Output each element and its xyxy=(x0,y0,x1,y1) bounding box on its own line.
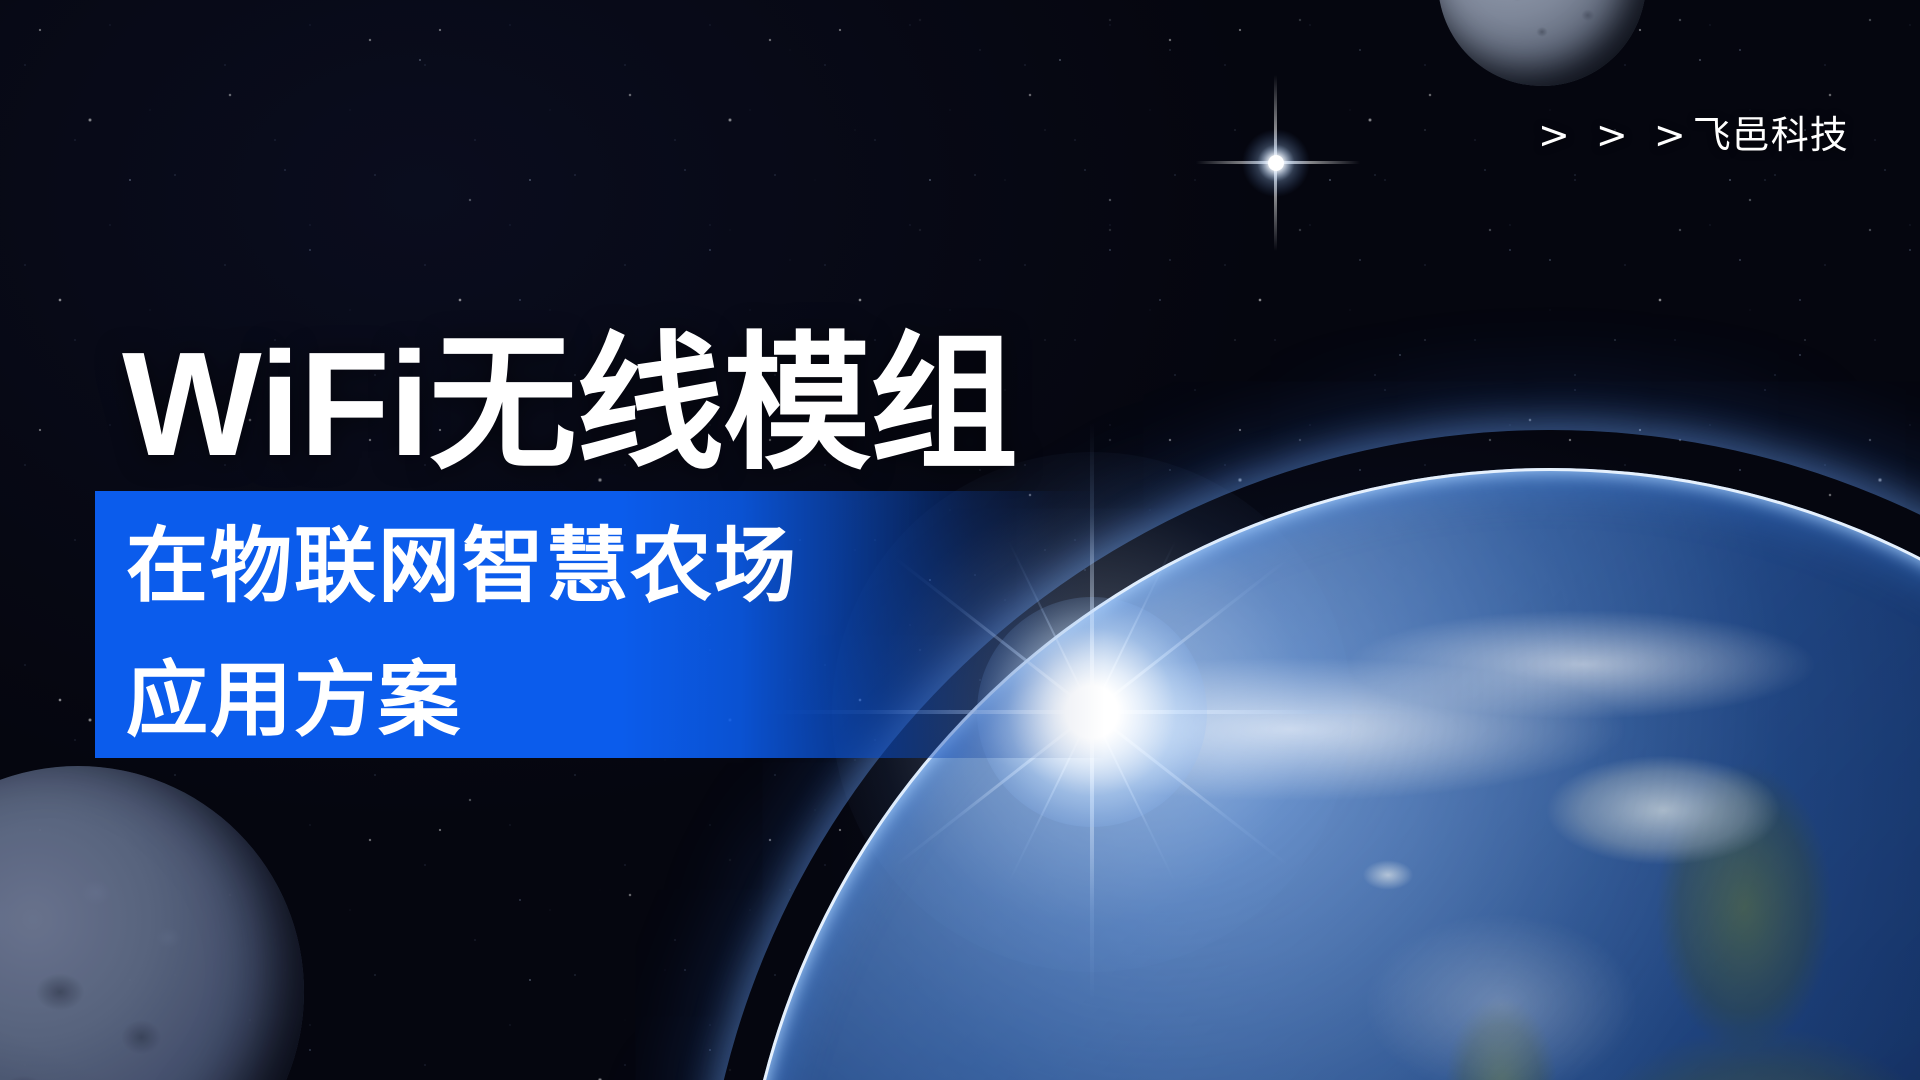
banner-canvas: > > >飞邑科技 WiFi无线模组 在物联网智慧农场 应用方案 xyxy=(0,0,1920,1080)
subtitle-line-2: 应用方案 xyxy=(126,634,1046,768)
subtitle: 在物联网智慧农场 应用方案 xyxy=(126,500,1046,768)
moon-top-right xyxy=(1438,0,1646,86)
page-title: WiFi无线模组 xyxy=(122,330,1017,481)
moon-bottom-left xyxy=(0,766,304,1080)
subtitle-line-1: 在物联网智慧农场 xyxy=(126,500,1046,634)
brand-name: 飞邑科技 xyxy=(1693,115,1849,157)
chevron-marks-icon: > > > xyxy=(1538,113,1693,157)
bright-star-4-point xyxy=(1178,65,1378,265)
brand-logo: > > >飞邑科技 xyxy=(1538,104,1849,159)
